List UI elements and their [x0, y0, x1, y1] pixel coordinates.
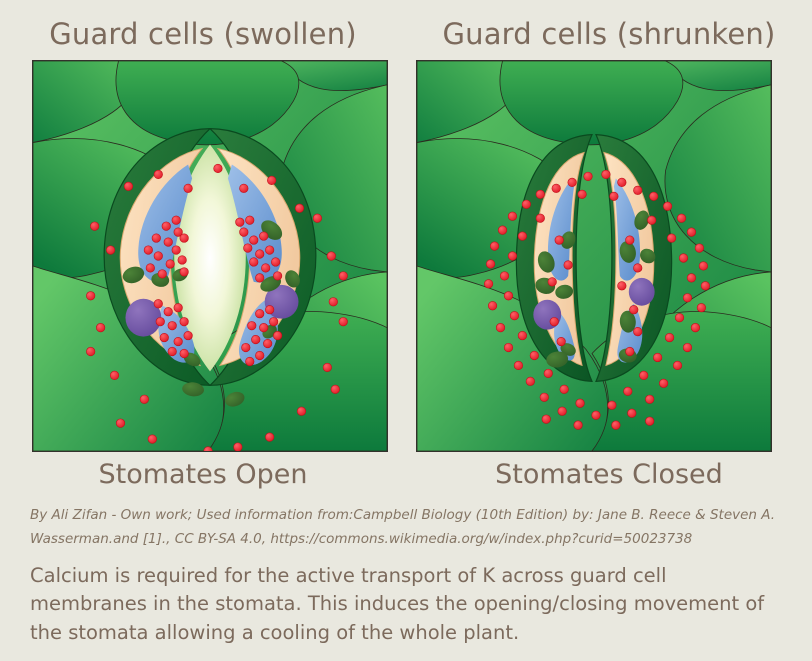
- sublabel-stomates-closed: Stomates Closed: [495, 459, 723, 490]
- attribution-line-2: Wasserman.and [1]., CC BY-SA 4.0, https:…: [30, 528, 790, 552]
- description-text: Calcium is required for the active trans…: [30, 562, 785, 647]
- panel-title-open: Guard cells (swollen): [49, 17, 357, 51]
- diagram-panel-stomates-open: [32, 60, 388, 452]
- sublabel-cell-closed: Stomates Closed: [406, 452, 812, 496]
- panel-titles-row: Guard cells (swollen) Guard cells (shrun…: [0, 10, 812, 58]
- title-cell-closed: Guard cells (shrunken): [406, 10, 812, 58]
- attribution-line-1: By Ali Zifan - Own work; Used informatio…: [30, 504, 790, 528]
- panel-sublabels-row: Stomates Open Stomates Closed: [0, 452, 812, 496]
- figure-root: Guard cells (swollen) Guard cells (shrun…: [0, 0, 812, 661]
- figure-panels: [32, 60, 772, 452]
- stomate-closed-illustration: [417, 61, 771, 451]
- title-cell-open: Guard cells (swollen): [0, 10, 406, 58]
- attribution-block: By Ali Zifan - Own work; Used informatio…: [30, 504, 790, 551]
- panel-title-closed: Guard cells (shrunken): [442, 17, 775, 51]
- sublabel-cell-open: Stomates Open: [0, 452, 406, 496]
- diagram-panel-stomates-closed: [416, 60, 772, 452]
- stomate-open-illustration: [33, 61, 387, 451]
- sublabel-stomates-open: Stomates Open: [98, 459, 307, 490]
